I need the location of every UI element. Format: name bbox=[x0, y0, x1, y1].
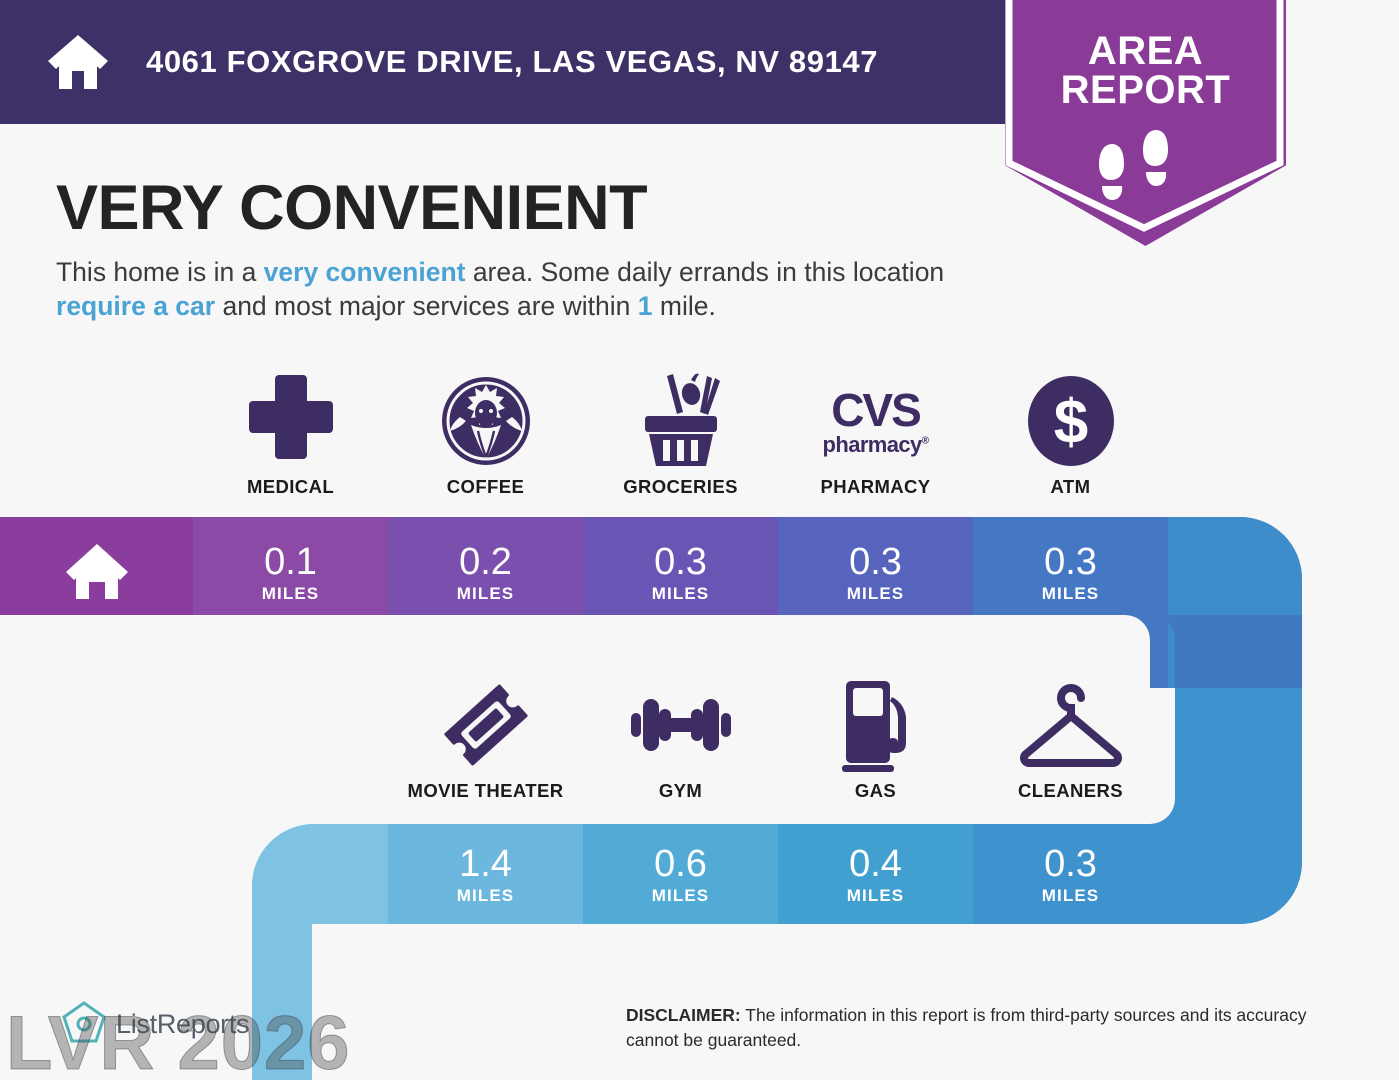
distance-unit: MILES bbox=[973, 584, 1168, 604]
distance-unit: MILES bbox=[193, 584, 388, 604]
distance-unit: MILES bbox=[583, 584, 778, 604]
icon-label: COFFEE bbox=[388, 476, 583, 498]
icon-label: GYM bbox=[583, 780, 778, 802]
icon-cell-gym: GYM bbox=[583, 676, 778, 802]
listreports-pentagon-icon bbox=[58, 998, 110, 1050]
property-address: 4061 FOXGROVE DRIVE, LAS VEGAS, NV 89147 bbox=[146, 44, 878, 80]
distance-value: 0.3 bbox=[778, 543, 973, 581]
listreports-name: ListReports bbox=[116, 1009, 249, 1040]
svg-text:$: $ bbox=[1053, 388, 1087, 457]
gas-pump-icon bbox=[778, 676, 973, 774]
icon-cell-cleaners: CLEANERS bbox=[973, 676, 1168, 802]
home-icon bbox=[46, 33, 110, 91]
distance-gas: 0.4 MILES bbox=[778, 845, 973, 906]
icon-cell-movie-theater: MOVIE THEATER bbox=[388, 676, 583, 802]
distance-value: 0.2 bbox=[388, 543, 583, 581]
icon-cell-pharmacy: CVS pharmacy® PHARMACY bbox=[778, 372, 973, 498]
summary-text: This home is in a very convenient area. … bbox=[56, 256, 996, 324]
row2-icons: MOVIE THEATER GYM bbox=[0, 676, 1399, 816]
dollar-circle-icon: $ bbox=[973, 372, 1168, 470]
distance-unit: MILES bbox=[778, 886, 973, 906]
cvs-pharmacy-logo-icon: CVS pharmacy® bbox=[778, 372, 973, 470]
icon-label: MEDICAL bbox=[193, 476, 388, 498]
icon-cell-atm: $ ATM bbox=[973, 372, 1168, 498]
icon-cell-gas: GAS bbox=[778, 676, 973, 802]
page-title: VERY CONVENIENT bbox=[56, 172, 647, 244]
icon-cell-medical: MEDICAL bbox=[193, 372, 388, 498]
starbucks-logo-icon bbox=[388, 372, 583, 470]
dumbbell-icon bbox=[583, 676, 778, 774]
distance-value: 1.4 bbox=[388, 845, 583, 883]
distance-value: 0.3 bbox=[973, 543, 1168, 581]
icon-label: ATM bbox=[973, 476, 1168, 498]
distance-unit: MILES bbox=[388, 584, 583, 604]
movie-ticket-icon bbox=[388, 676, 583, 774]
ribbon-top-segments bbox=[0, 505, 1399, 705]
distance-value: 0.4 bbox=[778, 845, 973, 883]
distance-groceries: 0.3 MILES bbox=[583, 543, 778, 604]
distance-movie-theater: 1.4 MILES bbox=[388, 845, 583, 906]
icon-label: CLEANERS bbox=[973, 780, 1168, 802]
disclaimer: DISCLAIMER: The information in this repo… bbox=[626, 1003, 1346, 1053]
medical-cross-icon bbox=[193, 372, 388, 470]
listreports-logo: ListReports bbox=[58, 998, 249, 1050]
distance-unit: MILES bbox=[583, 886, 778, 906]
distance-coffee: 0.2 MILES bbox=[388, 543, 583, 604]
grocery-basket-icon bbox=[583, 372, 778, 470]
disclaimer-label: DISCLAIMER: bbox=[626, 1005, 741, 1025]
distance-unit: MILES bbox=[388, 886, 583, 906]
summary-highlight-3: 1 bbox=[638, 291, 653, 321]
distance-medical: 0.1 MILES bbox=[193, 543, 388, 604]
distance-gym: 0.6 MILES bbox=[583, 845, 778, 906]
distance-unit: MILES bbox=[973, 886, 1168, 906]
home-marker-icon bbox=[64, 542, 130, 600]
distance-value: 0.3 bbox=[973, 845, 1168, 883]
clothes-hanger-icon bbox=[973, 676, 1168, 774]
distance-pharmacy: 0.3 MILES bbox=[778, 543, 973, 604]
distance-unit: MILES bbox=[778, 584, 973, 604]
icon-cell-groceries: GROCERIES bbox=[583, 372, 778, 498]
distance-value: 0.6 bbox=[583, 845, 778, 883]
summary-part-3: and most major services are within bbox=[215, 291, 638, 321]
icon-label: GAS bbox=[778, 780, 973, 802]
summary-highlight-2: require a car bbox=[56, 291, 215, 321]
summary-highlight-1: very convenient bbox=[264, 257, 466, 287]
distance-value: 0.1 bbox=[193, 543, 388, 581]
icon-label: MOVIE THEATER bbox=[388, 780, 583, 802]
icon-label: PHARMACY bbox=[778, 476, 973, 498]
icon-cell-coffee: COFFEE bbox=[388, 372, 583, 498]
badge-outline bbox=[999, 0, 1294, 256]
summary-part-4: mile. bbox=[653, 291, 716, 321]
distance-value: 0.3 bbox=[583, 543, 778, 581]
summary-part-1: This home is in a bbox=[56, 257, 264, 287]
row1-icons: MEDICAL COFFEE bbox=[0, 372, 1399, 512]
header-bar: 4061 FOXGROVE DRIVE, LAS VEGAS, NV 89147 bbox=[0, 0, 1052, 124]
summary-part-2: area. Some daily errands in this locatio… bbox=[465, 257, 944, 287]
distance-cleaners: 0.3 MILES bbox=[973, 845, 1168, 906]
area-report-infographic: 4061 FOXGROVE DRIVE, LAS VEGAS, NV 89147… bbox=[0, 0, 1399, 1080]
icon-label: GROCERIES bbox=[583, 476, 778, 498]
distance-atm: 0.3 MILES bbox=[973, 543, 1168, 604]
